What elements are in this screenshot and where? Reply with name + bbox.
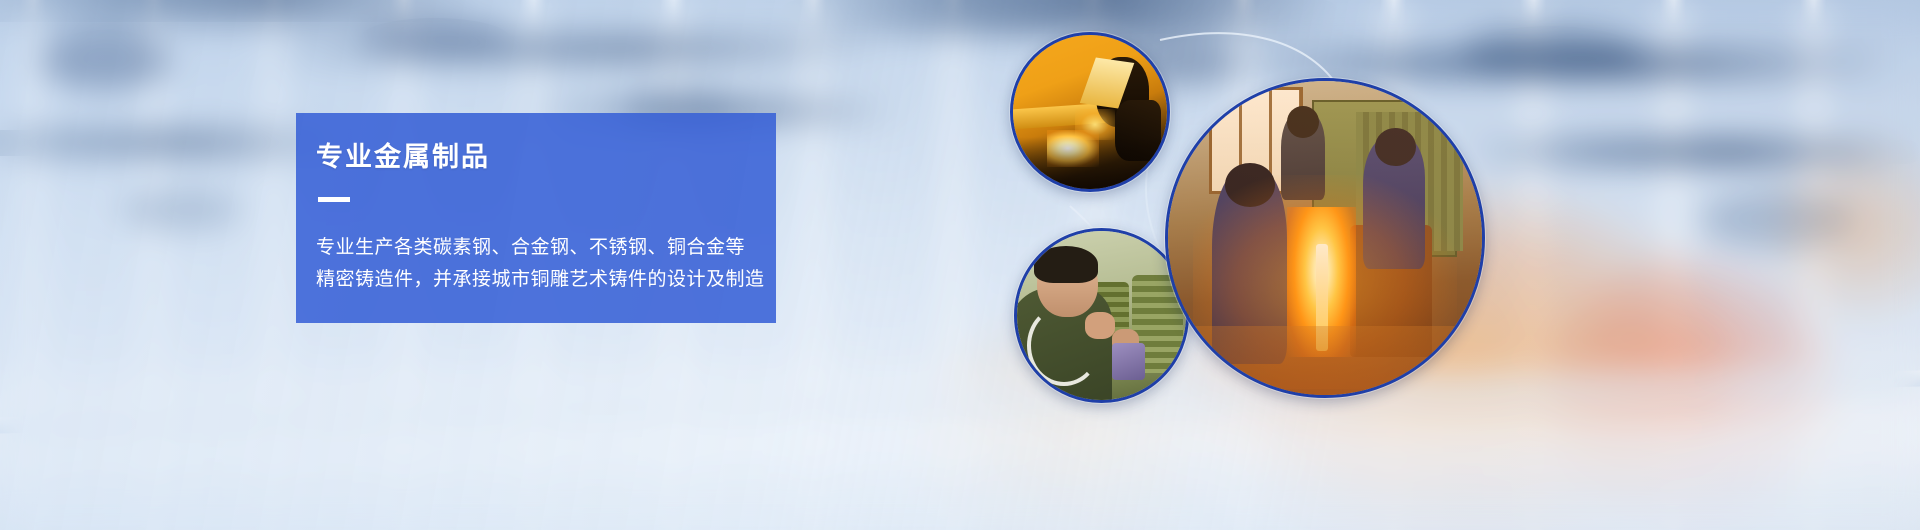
panel-description-line-2: 精密铸造件，并承接城市铜雕艺术铸件的设计及制造 [316,264,776,296]
photo-collage [1010,0,1710,530]
hero-banner: 专业金属制品 专业生产各类碳素钢、合金钢、不锈钢、铜合金等 精密铸造件，并承接城… [0,0,1920,530]
title-divider-rule [318,197,350,202]
promo-text-panel: 专业金属制品 专业生产各类碳素钢、合金钢、不锈钢、铜合金等 精密铸造件，并承接城… [296,113,776,323]
assembly-worker-photo-scene [1017,231,1186,400]
foundry-pour-photo [1165,78,1485,398]
panel-title: 专业金属制品 [316,143,776,173]
assembly-worker-photo [1014,228,1189,403]
panel-description-line-1: 专业生产各类碳素钢、合金钢、不锈钢、铜合金等 [316,232,776,264]
welder-photo [1010,32,1170,192]
panel-description: 专业生产各类碳素钢、合金钢、不锈钢、铜合金等 精密铸造件，并承接城市铜雕艺术铸件… [316,232,776,296]
welder-photo-scene [1013,35,1167,189]
foundry-pour-photo-scene [1168,81,1482,395]
